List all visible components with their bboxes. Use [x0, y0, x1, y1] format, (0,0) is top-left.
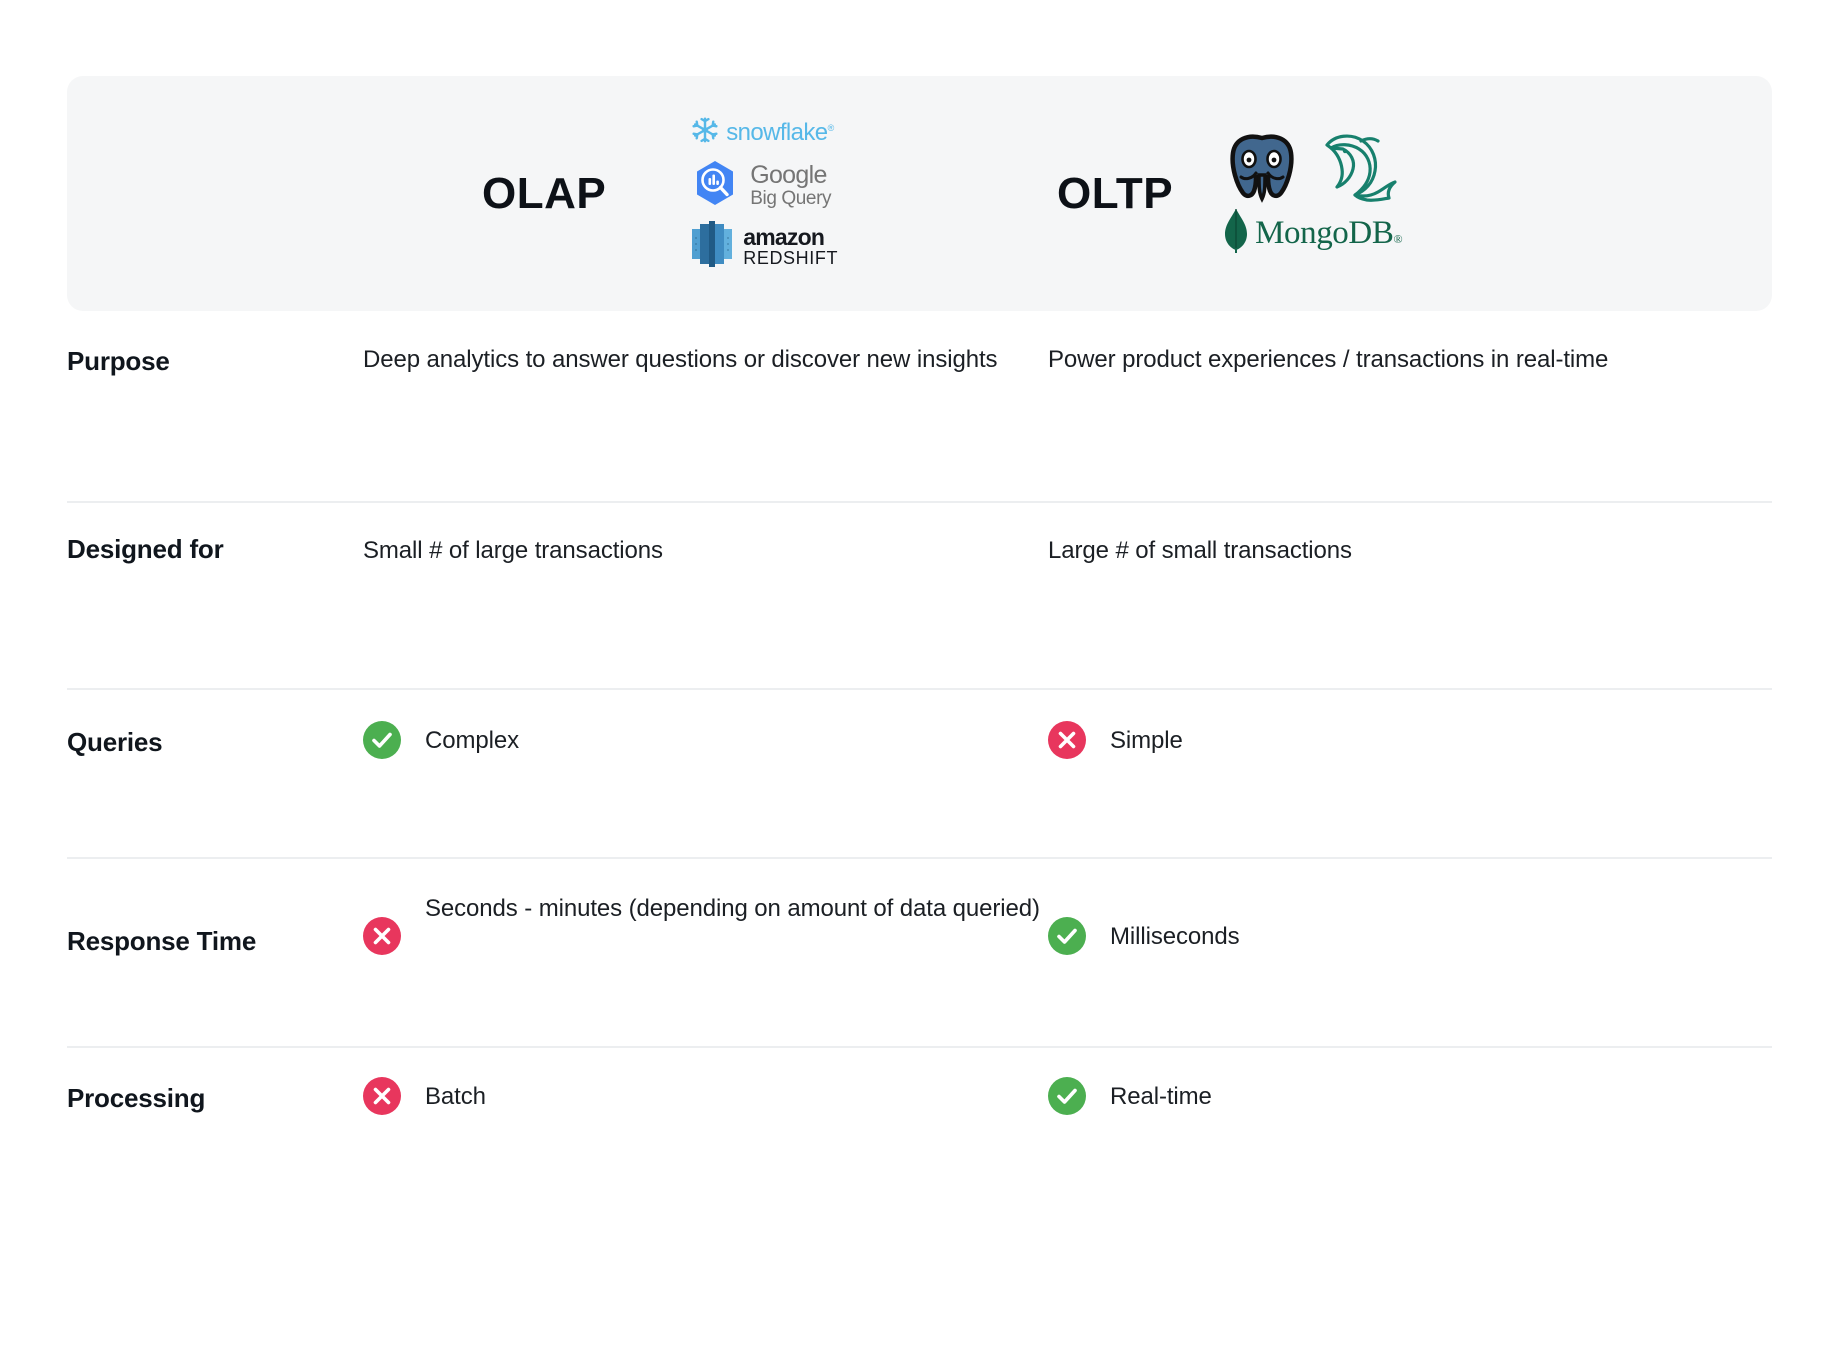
olap-value-queries: Complex	[425, 721, 519, 761]
bigquery-icon	[690, 158, 740, 213]
postgresql-logo	[1223, 129, 1301, 212]
olap-cell-designed-for: Small # of large transactions	[363, 532, 1048, 571]
x-circle-icon	[363, 1077, 401, 1115]
oltp-cell-queries: Simple	[1048, 721, 1768, 761]
row-label-response-time: Response Time	[0, 889, 363, 957]
table-row: Designed for Small # of large transactio…	[0, 503, 1840, 690]
olap-cell-queries: Complex	[363, 721, 1048, 761]
redshift-amazon-text: amazon	[743, 226, 838, 249]
table-row: Queries Complex Simple	[0, 690, 1840, 859]
google-bigquery-logo: Google Big Query	[690, 158, 838, 214]
check-circle-icon	[363, 721, 401, 759]
olap-header-group: OLAP	[482, 76, 838, 311]
oltp-cell-response-time: Milliseconds	[1048, 889, 1768, 957]
oltp-logo-stack: MongoDB®	[1223, 129, 1402, 259]
header-band: OLAP	[67, 76, 1772, 311]
olap-value-purpose: Deep analytics to answer questions or di…	[363, 341, 1048, 380]
row-label-purpose: Purpose	[0, 341, 363, 377]
oltp-value-queries: Simple	[1110, 721, 1183, 761]
oltp-value-designed-for: Large # of small transactions	[1048, 532, 1768, 571]
mongodb-leaf-icon	[1223, 208, 1249, 259]
table-row: Processing Batch Real-time	[0, 1048, 1840, 1178]
olap-cell-response-time: Seconds - minutes (depending on amount o…	[363, 889, 1048, 955]
bigquery-wordmark: Google Big Query	[750, 163, 831, 208]
table-row: Purpose Deep analytics to answer questio…	[0, 311, 1840, 503]
x-circle-icon	[363, 917, 401, 955]
comparison-rows: Purpose Deep analytics to answer questio…	[0, 311, 1840, 1178]
oltp-value-response-time: Milliseconds	[1110, 889, 1240, 957]
snowflake-wordmark: snowflake®	[726, 119, 833, 147]
oltp-db-logo-row	[1223, 129, 1402, 211]
row-label-queries: Queries	[0, 721, 363, 758]
oltp-title: OLTP	[1057, 172, 1173, 216]
olap-value-response-time: Seconds - minutes (depending on amount o…	[425, 889, 1040, 929]
olap-title: OLAP	[482, 172, 606, 216]
mysql-logo	[1315, 129, 1401, 212]
olap-value-designed-for: Small # of large transactions	[363, 532, 1048, 571]
row-label-designed-for: Designed for	[0, 532, 363, 565]
oltp-header-group: OLTP	[1057, 76, 1402, 311]
oltp-value-purpose: Power product experiences / transactions…	[1048, 341, 1768, 380]
check-circle-icon	[1048, 1077, 1086, 1115]
redshift-redshift-text: REDSHIFT	[743, 249, 838, 267]
mongodb-logo: MongoDB®	[1223, 209, 1402, 259]
oltp-cell-processing: Real-time	[1048, 1077, 1768, 1117]
mongodb-wordmark: MongoDB®	[1255, 215, 1402, 252]
x-circle-icon	[1048, 721, 1086, 759]
redshift-wordmark: amazon REDSHIFT	[743, 226, 838, 267]
row-label-processing: Processing	[0, 1077, 363, 1114]
olap-cell-processing: Batch	[363, 1077, 1048, 1117]
oltp-cell-purpose: Power product experiences / transactions…	[1048, 341, 1768, 380]
bigquery-sub-text: Big Query	[750, 189, 831, 208]
comparison-card: OLAP	[0, 0, 1840, 1348]
snowflake-icon	[690, 115, 720, 150]
olap-cell-purpose: Deep analytics to answer questions or di…	[363, 341, 1048, 380]
bigquery-google-text: Google	[750, 163, 831, 189]
table-row: Response Time Seconds - minutes (dependi…	[0, 859, 1840, 1048]
oltp-value-processing: Real-time	[1110, 1077, 1212, 1117]
amazon-redshift-logo: amazon REDSHIFT	[690, 222, 838, 272]
snowflake-logo: snowflake®	[690, 116, 838, 150]
redshift-icon	[690, 221, 734, 272]
olap-value-processing: Batch	[425, 1077, 486, 1117]
check-circle-icon	[1048, 917, 1086, 955]
olap-logo-stack: snowflake®	[690, 116, 838, 272]
oltp-cell-designed-for: Large # of small transactions	[1048, 532, 1768, 571]
